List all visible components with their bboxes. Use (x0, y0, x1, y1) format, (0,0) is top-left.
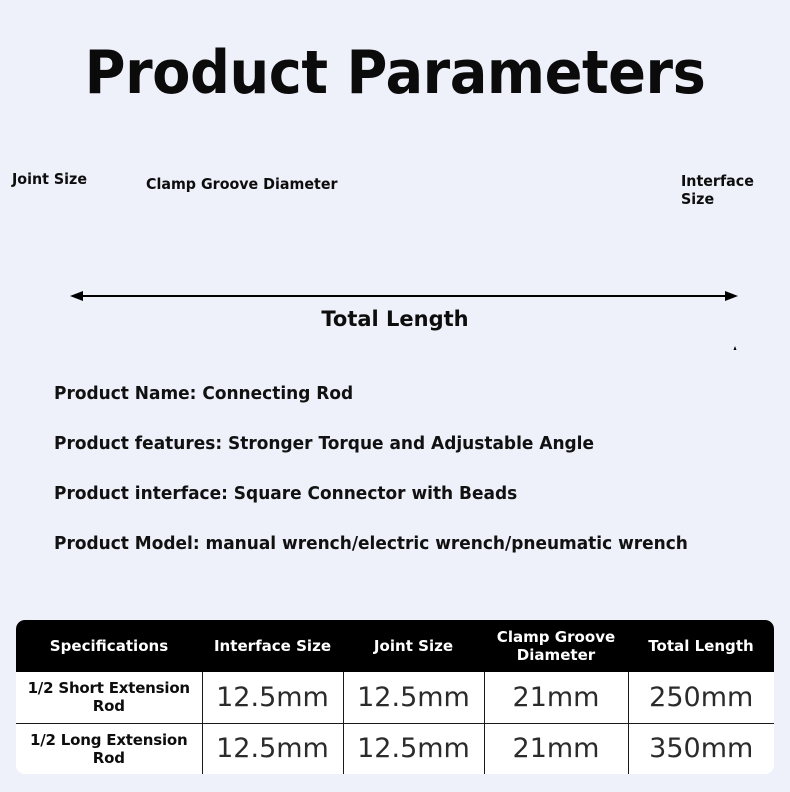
product-spec-list: Product Name: Connecting Rod Product fea… (54, 378, 754, 578)
interface-size-dimension (731, 346, 740, 350)
spec-line-product-interface: Product interface: Square Connector with… (54, 478, 733, 528)
cell-joint-size: 12.5mm (343, 672, 484, 723)
table-header-clamp-groove-diameter: Clamp Groove Diameter (486, 620, 626, 672)
cell-joint-size: 12.5mm (343, 723, 484, 774)
product-diagram: Joint Size Clamp Groove Diameter Interfa… (0, 150, 790, 350)
total-length-dimension (70, 291, 738, 301)
cell-interface-size: 12.5mm (202, 723, 343, 774)
cell-specification: 1/2 Short Extension Rod (16, 672, 202, 723)
total-length-label: Total Length (0, 307, 790, 331)
joint-size-label: Joint Size (12, 170, 87, 188)
product-parameters-page: Product Parameters (0, 0, 790, 792)
table-header-total-length: Total Length (630, 620, 772, 672)
table-header-joint-size: Joint Size (345, 620, 482, 672)
table-header-specifications: Specifications (19, 620, 199, 672)
spec-line-product-name: Product Name: Connecting Rod (54, 378, 733, 428)
interface-size-label: Interface Size (681, 172, 785, 208)
table-header-row: Specifications Interface Size Joint Size… (16, 620, 774, 672)
clamp-groove-diameter-label: Clamp Groove Diameter (146, 175, 338, 193)
cell-specification: 1/2 Long Extension Rod (16, 723, 202, 774)
cell-interface-size: 12.5mm (202, 672, 343, 723)
cell-total-length: 250mm (628, 672, 774, 723)
cell-clamp-groove-diameter: 21mm (484, 723, 628, 774)
spec-line-product-model: Product Model: manual wrench/electric wr… (54, 528, 733, 578)
page-title: Product Parameters (28, 38, 763, 108)
cell-total-length: 350mm (628, 723, 774, 774)
spec-line-product-features: Product features: Stronger Torque and Ad… (54, 428, 733, 478)
specifications-table: Specifications Interface Size Joint Size… (16, 620, 774, 774)
table-header-interface-size: Interface Size (204, 620, 341, 672)
table-row: 1/2 Long Extension Rod 12.5mm 12.5mm 21m… (16, 723, 774, 774)
table-row: 1/2 Short Extension Rod 12.5mm 12.5mm 21… (16, 672, 774, 723)
cell-clamp-groove-diameter: 21mm (484, 672, 628, 723)
